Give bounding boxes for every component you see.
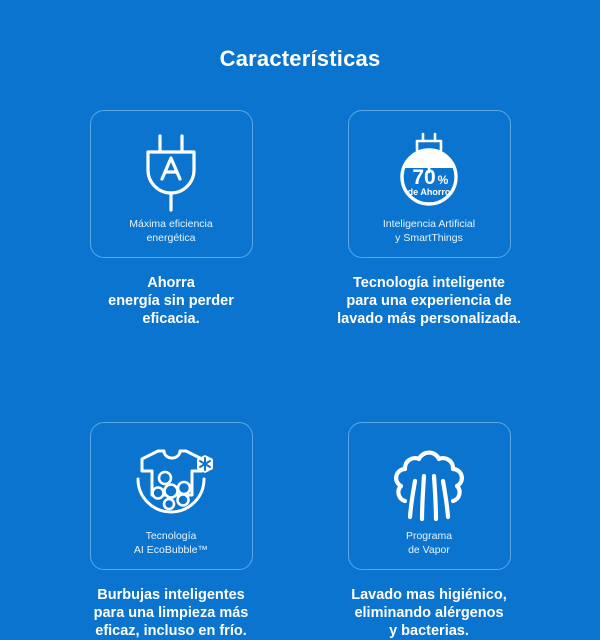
feature-caption: Lavado mas higiénico, eliminando alérgen… [351, 586, 507, 640]
caption-line-3: eficacia. [108, 310, 234, 328]
feature-item-energy-efficiency: Máxima eficiencia energética Ahorra ener… [90, 110, 253, 328]
savings-badge-plug-icon: 70 % de Ahorro [392, 129, 466, 215]
caption-line-3: eficaz, incluso en frío. [94, 622, 249, 640]
feature-card-ecobubble[interactable]: Tecnología AI EcoBubble™ [90, 422, 253, 570]
features-page: Características [0, 0, 600, 600]
page-title: Características [0, 46, 600, 72]
caption-line-2: eliminando alérgenos [351, 604, 507, 622]
features-row-2: Tecnología AI EcoBubble™ Burbujas inteli… [0, 422, 600, 640]
caption-line-2: para una limpieza más [94, 604, 249, 622]
caption-line-3: lavado más personalizada. [337, 310, 521, 328]
feature-caption: Burbujas inteligentes para una limpieza … [94, 586, 249, 640]
card-label-line-1: Máxima eficiencia [129, 218, 212, 230]
features-grid: Máxima eficiencia energética Ahorra ener… [0, 110, 600, 640]
card-label-line-2: y SmartThings [395, 232, 463, 244]
caption-line-2: para una experiencia de [337, 292, 521, 310]
caption-line-1: Ahorra [108, 274, 234, 292]
badge-value: 70 [412, 166, 435, 189]
feature-card-label: Inteligencia Artificial y SmartThings [383, 217, 475, 245]
card-label-line-2: energética [146, 232, 195, 244]
steam-cloud-icon [393, 441, 465, 527]
feature-item-ecobubble: Tecnología AI EcoBubble™ Burbujas inteli… [90, 422, 253, 640]
caption-line-1: Burbujas inteligentes [94, 586, 249, 604]
feature-card-energy-efficiency[interactable]: Máxima eficiencia energética [90, 110, 253, 258]
feature-caption: Tecnología inteligente para una experien… [337, 274, 521, 328]
features-row-1: Máxima eficiencia energética Ahorra ener… [0, 110, 600, 328]
card-label-line-1: Tecnología [146, 530, 197, 542]
power-plug-a-rating-icon [138, 129, 204, 215]
feature-item-ai-smartthings: 70 % de Ahorro Inteligencia Artificial y… [348, 110, 511, 328]
badge-sub: de Ahorro [408, 187, 451, 197]
feature-card-label: Programa de Vapor [406, 529, 452, 557]
feature-card-label: Máxima eficiencia energética [129, 217, 212, 245]
feature-card-steam[interactable]: Programa de Vapor [348, 422, 511, 570]
card-label-line-1: Programa [406, 530, 452, 542]
caption-line-1: Tecnología inteligente [337, 274, 521, 292]
badge-unit: % [438, 173, 449, 187]
feature-item-steam: Programa de Vapor Lavado mas higiénico, … [348, 422, 511, 640]
card-label-line-2: AI EcoBubble™ [134, 544, 208, 556]
caption-line-1: Lavado mas higiénico, [351, 586, 507, 604]
feature-card-ai-smartthings[interactable]: 70 % de Ahorro Inteligencia Artificial y… [348, 110, 511, 258]
card-label-line-1: Inteligencia Artificial [383, 218, 475, 230]
feature-caption: Ahorra energía sin perder eficacia. [108, 274, 234, 328]
caption-line-3: y bacterias. [351, 622, 507, 640]
caption-line-2: energía sin perder [108, 292, 234, 310]
feature-card-label: Tecnología AI EcoBubble™ [134, 529, 208, 557]
card-label-line-2: de Vapor [408, 544, 450, 556]
tshirt-bubbles-snowflake-icon [128, 441, 214, 527]
